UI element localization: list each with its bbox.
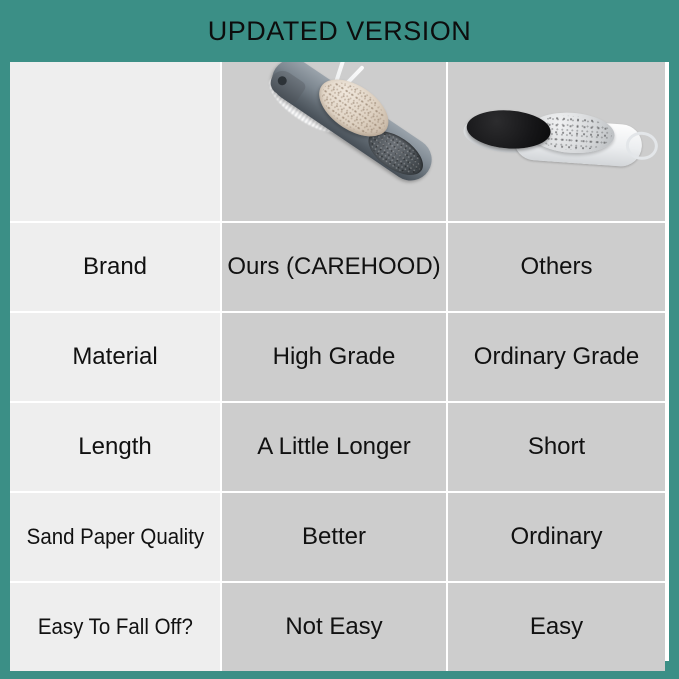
cell-label-easy-to-fall-off: Easy To Fall Off?: [10, 583, 220, 671]
others-value: Easy: [530, 613, 583, 641]
others-product-image: [448, 62, 665, 221]
ours-value: A Little Longer: [257, 433, 410, 461]
cell-others-material: Ordinary Grade: [446, 313, 665, 401]
cell-label-brand: Brand: [10, 223, 220, 311]
comparison-table: Brand Ours (CAREHOOD) Others Material Hi…: [10, 62, 669, 661]
row-label: Brand: [83, 253, 147, 281]
ours-value: Ours (CAREHOOD): [227, 253, 440, 281]
table-row: Sand Paper Quality Better Ordinary: [10, 491, 669, 581]
ours-value: Better: [302, 523, 366, 551]
table-row: Length A Little Longer Short: [10, 401, 669, 491]
page-title: UPDATED VERSION: [0, 14, 679, 48]
cell-image-label: [10, 62, 220, 221]
row-label: Length: [78, 433, 151, 461]
ours-value: Not Easy: [285, 613, 382, 641]
comparison-infographic: UPDATED VERSION: [0, 0, 679, 679]
cell-image-ours: [220, 62, 446, 221]
row-label: Sand Paper Quality: [26, 523, 203, 551]
cell-ours-sand-paper-quality: Better: [220, 493, 446, 581]
table-row-images: [10, 62, 669, 221]
cell-others-length: Short: [446, 403, 665, 491]
table-row: Brand Ours (CAREHOOD) Others: [10, 221, 669, 311]
cell-ours-brand: Ours (CAREHOOD): [220, 223, 446, 311]
others-value: Short: [528, 433, 585, 461]
table-row: Easy To Fall Off? Not Easy Easy: [10, 581, 669, 671]
others-value: Ordinary: [510, 523, 602, 551]
others-value: Others: [520, 253, 592, 281]
cell-others-brand: Others: [446, 223, 665, 311]
cell-label-sand-paper-quality: Sand Paper Quality: [10, 493, 220, 581]
handle-neck: [266, 66, 308, 105]
cell-ours-material: High Grade: [220, 313, 446, 401]
ours-value: High Grade: [273, 343, 396, 371]
ours-product-image: [222, 62, 446, 221]
cell-image-others: [446, 62, 665, 221]
cell-ours-length: A Little Longer: [220, 403, 446, 491]
row-label: Easy To Fall Off?: [37, 613, 192, 641]
cell-label-length: Length: [10, 403, 220, 491]
cell-others-sand-paper-quality: Ordinary: [446, 493, 665, 581]
cell-others-easy-to-fall-off: Easy: [446, 583, 665, 671]
others-value: Ordinary Grade: [474, 343, 639, 371]
row-label: Material: [72, 343, 157, 371]
cell-label-material: Material: [10, 313, 220, 401]
cell-ours-easy-to-fall-off: Not Easy: [220, 583, 446, 671]
table-row: Material High Grade Ordinary Grade: [10, 311, 669, 401]
